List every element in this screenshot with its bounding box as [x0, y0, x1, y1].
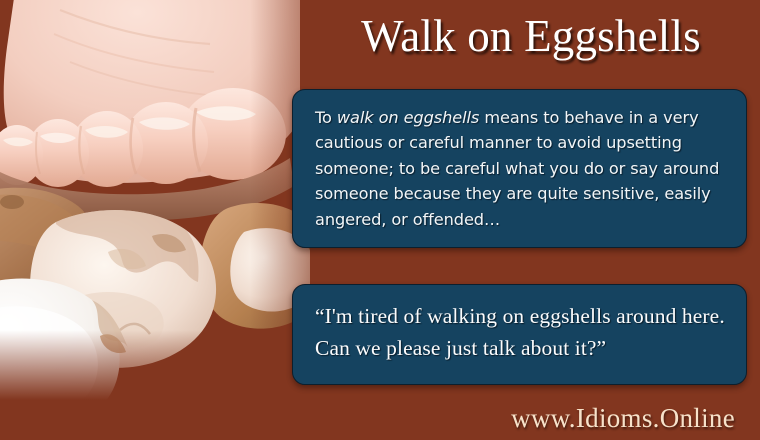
- definition-text: To walk on eggshells means to behave in …: [315, 105, 726, 232]
- website-url: www.Idioms.Online: [511, 401, 735, 435]
- idiom-poster: Walk on Eggshells To walk on eggshells m…: [0, 0, 760, 440]
- idiom-phrase: walk on eggshells: [337, 108, 479, 127]
- eggshell-photo-illustration: [0, 0, 310, 400]
- definition-lead: To: [315, 108, 337, 127]
- page-title: Walk on Eggshells: [308, 8, 754, 64]
- foot-on-eggshells-image: [0, 0, 310, 400]
- example-panel: “I'm tired of walking on eggshells aroun…: [292, 284, 747, 385]
- definition-panel: To walk on eggshells means to behave in …: [292, 89, 747, 248]
- example-quote: “I'm tired of walking on eggshells aroun…: [315, 300, 726, 364]
